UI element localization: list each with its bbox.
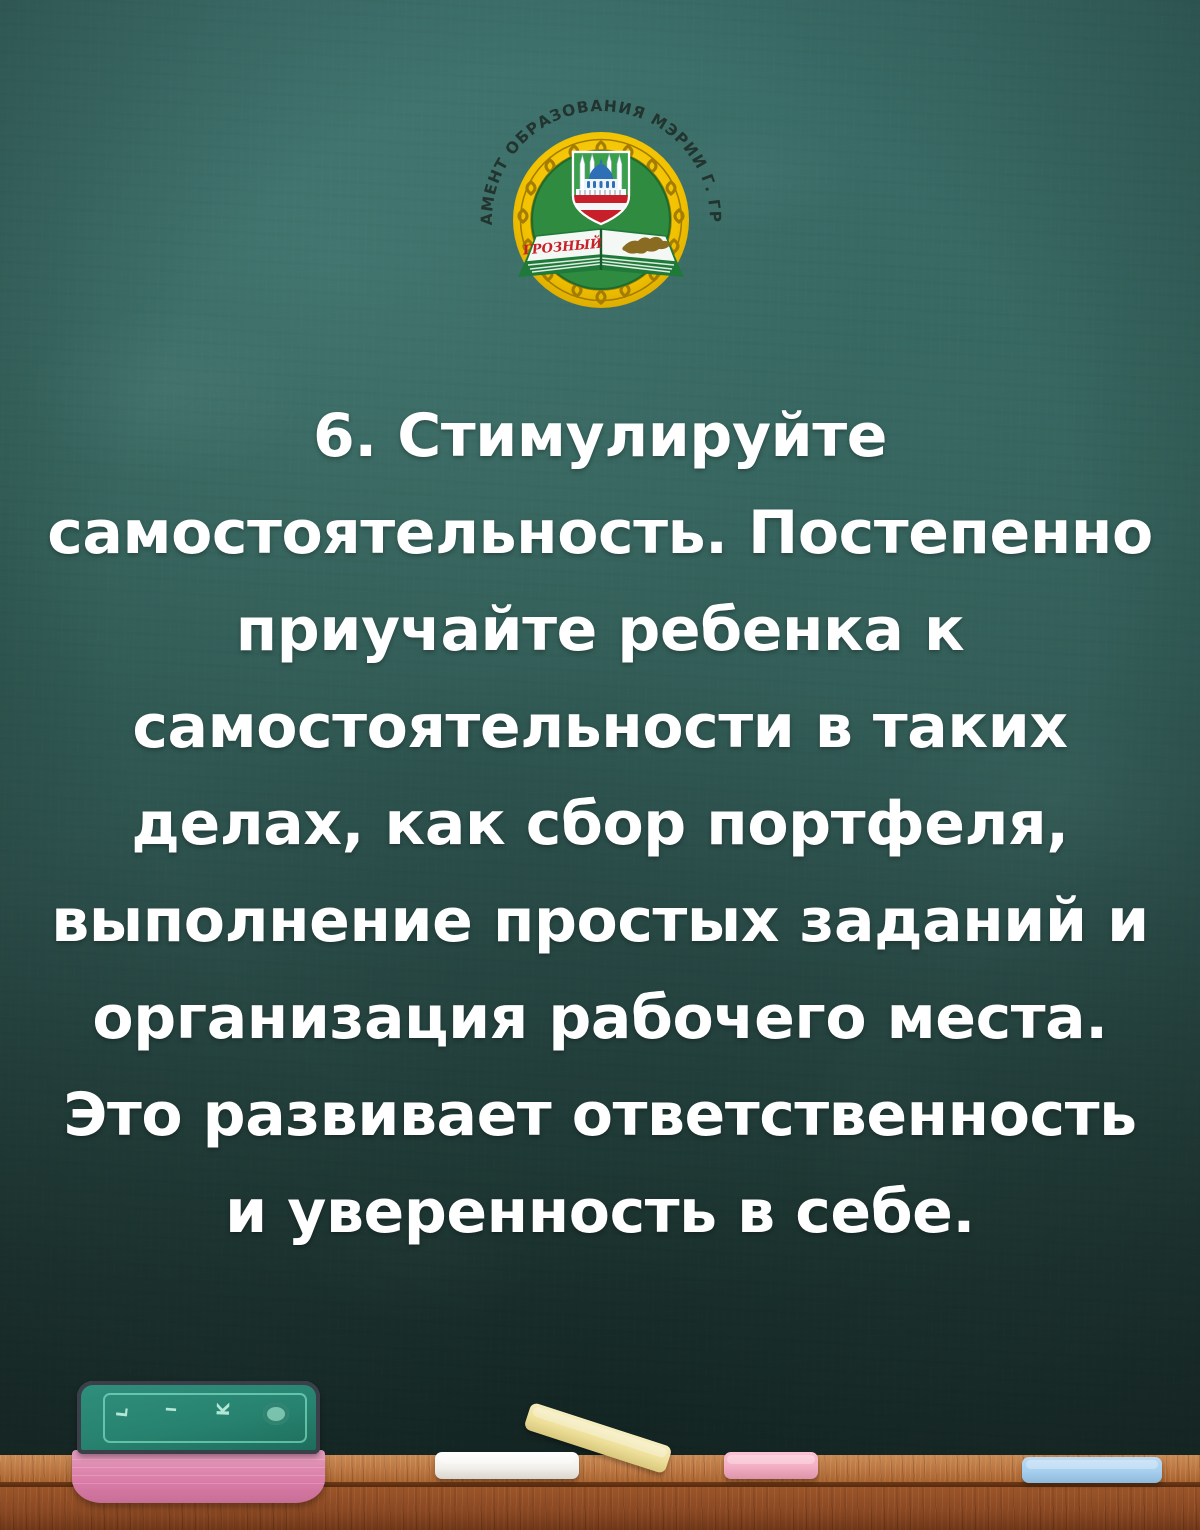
chalk-white: [435, 1452, 579, 1479]
board-eraser-body: [72, 1450, 325, 1503]
board-eraser-mark-2: I: [164, 1405, 180, 1412]
emblem-open-book: ГРОЗНЫЙ: [518, 229, 684, 277]
chalk-blue: [1022, 1457, 1162, 1483]
board-eraser-top: L I K: [77, 1381, 320, 1454]
page-headline: 6. Стимулируйте самостоятельность. Посте…: [46, 388, 1154, 1261]
chalkboard-poster: ДЕПАРТАМЕНТ ОБРАЗОВАНИЯ МЭРИИ Г. ГРОЗНОГ…: [0, 0, 1200, 1530]
board-eraser-dot-badge-icon: [263, 1403, 289, 1425]
board-eraser-mark-1: L: [113, 1406, 132, 1418]
chalk-pink: [724, 1452, 818, 1479]
grozny-education-department-emblem-icon: ДЕПАРТАМЕНТ ОБРАЗОВАНИЯ МЭРИИ Г. ГРОЗНОГ…: [470, 92, 732, 316]
board-eraser: L I K: [72, 1381, 325, 1503]
board-eraser-mark-3: K: [214, 1402, 234, 1417]
